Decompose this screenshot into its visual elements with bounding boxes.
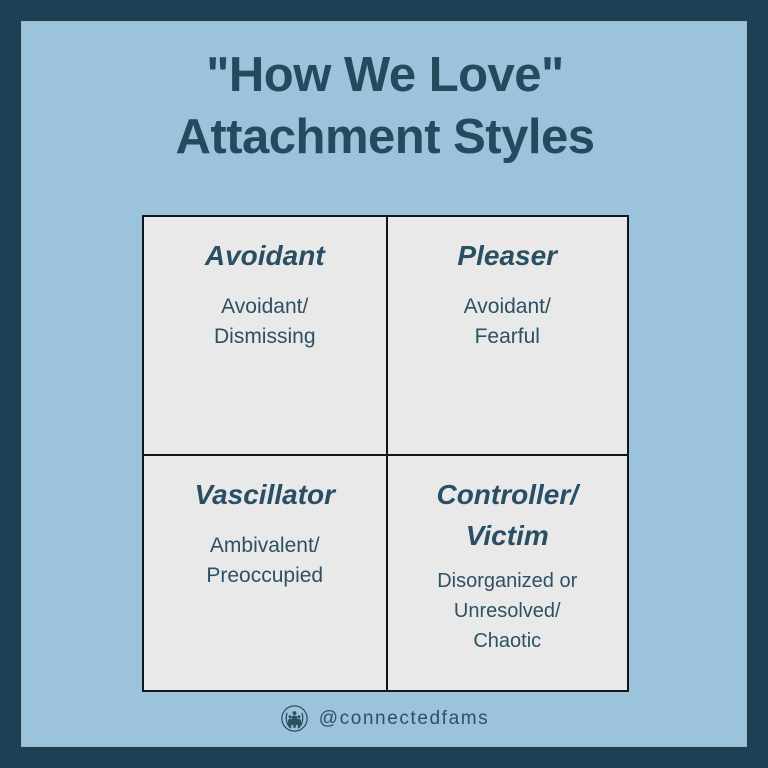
matrix-cell-subtitle: Avoidant/Fearful [398, 292, 618, 352]
matrix-cell-avoidant: Avoidant Avoidant/Dismissing [144, 217, 386, 454]
matrix-cell-pleaser: Pleaser Avoidant/Fearful [386, 217, 628, 454]
matrix-cell-controller-victim: Controller/Victim Disorganized orUnresol… [386, 454, 628, 691]
page-title: "How We Love" Attachment Styles [22, 44, 748, 168]
matrix-cell-vascillator: Vascillator Ambivalent/Preoccupied [144, 454, 386, 691]
poster-inner-frame: "How We Love" Attachment Styles Avoidant… [21, 21, 747, 747]
matrix-cell-heading: Pleaser [398, 235, 618, 276]
poster: "How We Love" Attachment Styles Avoidant… [0, 0, 768, 768]
matrix-cell-subtitle: Disorganized orUnresolved/Chaotic [398, 566, 618, 656]
connected-families-logo-icon [281, 705, 308, 732]
matrix-cell-subtitle: Ambivalent/Preoccupied [154, 531, 376, 591]
attachment-styles-matrix: Avoidant Avoidant/Dismissing Pleaser Avo… [142, 215, 629, 692]
matrix-cell-heading: Controller/Victim [398, 474, 618, 556]
matrix-cell-subtitle: Avoidant/Dismissing [154, 292, 376, 352]
social-handle: @connectedfams [319, 705, 490, 732]
title-line-2: Attachment Styles [22, 106, 748, 168]
title-line-1: "How We Love" [22, 44, 748, 106]
matrix-cell-heading: Avoidant [154, 235, 376, 276]
footer: @connectedfams [22, 705, 748, 732]
matrix-cell-heading: Vascillator [154, 474, 376, 515]
